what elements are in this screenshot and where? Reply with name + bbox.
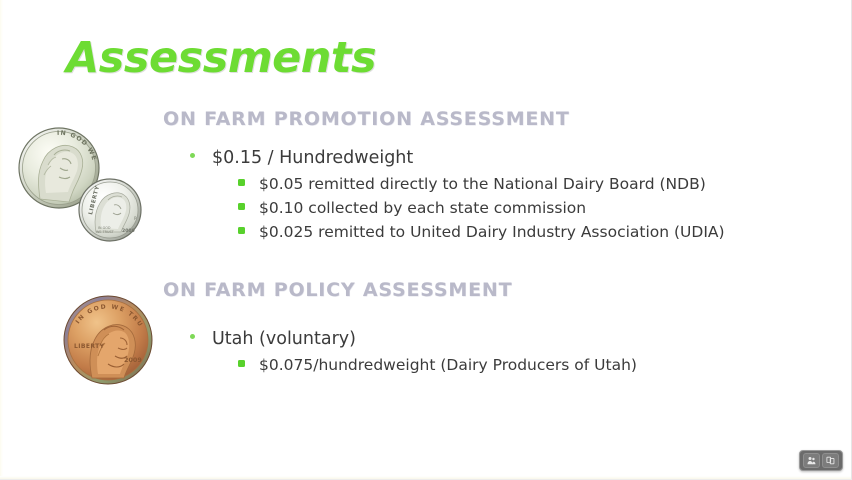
bullet-square-icon — [238, 360, 245, 367]
pages-icon[interactable] — [822, 453, 839, 468]
dime-motto-2: WE TRUST — [96, 230, 115, 234]
nickel-dime-svg: IN GOD WE TR LIBERTY IN GOD WE TRUST 2 — [10, 115, 175, 255]
slide-title: Assessments — [66, 33, 376, 83]
bullet-square-icon — [238, 203, 245, 210]
sub-bullet-text: $0.05 remitted directly to the National … — [259, 175, 706, 193]
penny-image: IN GOD WE TRUST LIBERTY 2009 — [58, 292, 158, 392]
penny-date: 2009 — [124, 356, 142, 364]
bullet-text: $0.15 / Hundredweight — [212, 148, 413, 168]
sub-bullet-item: $0.025 remitted to United Dairy Industry… — [238, 225, 725, 241]
pages-glyph — [826, 456, 835, 465]
slide-bottom-edge — [0, 476, 852, 479]
penny-svg: IN GOD WE TRUST LIBERTY 2009 — [58, 292, 158, 392]
slide-left-edge — [0, 0, 3, 480]
bullet-item: $0.15 / Hundredweight — [190, 150, 413, 168]
penny-coin: IN GOD WE TRUST LIBERTY 2009 — [58, 292, 152, 384]
sub-bullet-text: $0.025 remitted to United Dairy Industry… — [259, 223, 725, 241]
nickel-and-dime-image: IN GOD WE TR LIBERTY IN GOD WE TRUST 2 — [10, 115, 175, 255]
penny-liberty: LIBERTY — [74, 343, 105, 350]
bullet-dot-icon — [190, 334, 195, 339]
presentation-slide: Assessments ON FARM PROMOTION ASSESSMENT… — [0, 0, 852, 480]
sub-bullet-text: $0.075/hundredweight (Dairy Producers of… — [259, 356, 637, 374]
bullet-square-icon — [238, 227, 245, 234]
dime-date: 2009 — [122, 228, 135, 234]
sub-bullet-text: $0.10 collected by each state commission — [259, 199, 586, 217]
bullet-square-icon — [238, 179, 245, 186]
sub-bullet-item: $0.10 collected by each state commission — [238, 201, 586, 217]
people-icon[interactable] — [803, 453, 820, 468]
sub-bullet-item: $0.05 remitted directly to the National … — [238, 177, 706, 193]
player-controls-badge[interactable] — [799, 450, 843, 471]
people-glyph — [807, 456, 816, 465]
bullet-dot-icon — [190, 153, 195, 158]
sub-bullet-item: $0.075/hundredweight (Dairy Producers of… — [238, 358, 637, 374]
dime-coin: LIBERTY IN GOD WE TRUST 2009 P — [79, 179, 141, 241]
section-heading-policy: ON FARM POLICY ASSESSMENT — [163, 279, 512, 301]
bullet-text: Utah (voluntary) — [212, 329, 356, 349]
bullet-item: Utah (voluntary) — [190, 331, 356, 349]
section-heading-promotion: ON FARM PROMOTION ASSESSMENT — [163, 108, 570, 130]
